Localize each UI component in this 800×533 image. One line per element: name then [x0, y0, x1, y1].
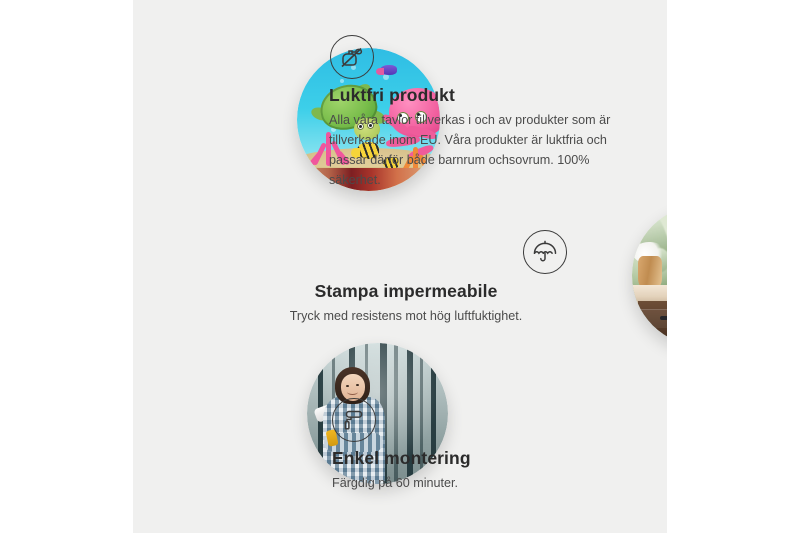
page-root: Luktfri produkt Alla våra tavlor tillver… — [0, 0, 800, 533]
photo-bathroom — [632, 205, 667, 346]
bathroom-scene — [632, 205, 667, 346]
feature-odourless: Luktfri produkt Alla våra tavlor tillver… — [329, 35, 629, 190]
umbrella-icon — [523, 230, 567, 274]
drawer-handle — [660, 316, 667, 320]
vanity-cabinet — [638, 301, 667, 346]
content-panel: Luktfri produkt Alla våra tavlor tillver… — [133, 0, 667, 533]
feature-waterproof: Stampa impermeabile Tryck med resistens … — [221, 230, 591, 327]
no-fragrance-bottle-icon — [330, 35, 374, 79]
feature-title: Luktfri produkt — [329, 85, 629, 107]
feature-title: Stampa impermeabile — [221, 281, 591, 303]
feature-body: Färgdig på 60 minuter. — [332, 474, 632, 494]
paint-roller-icon — [332, 398, 376, 442]
person-face — [341, 374, 365, 401]
feature-title: Enkel montering — [332, 448, 632, 470]
feature-body: Alla våra tavlor tillverkas i och av pro… — [329, 111, 629, 191]
feature-body: Tryck med resistens mot hög luftfuktighe… — [221, 307, 591, 327]
feature-easy-install: Enkel montering Färgdig på 60 minuter. — [332, 398, 632, 494]
